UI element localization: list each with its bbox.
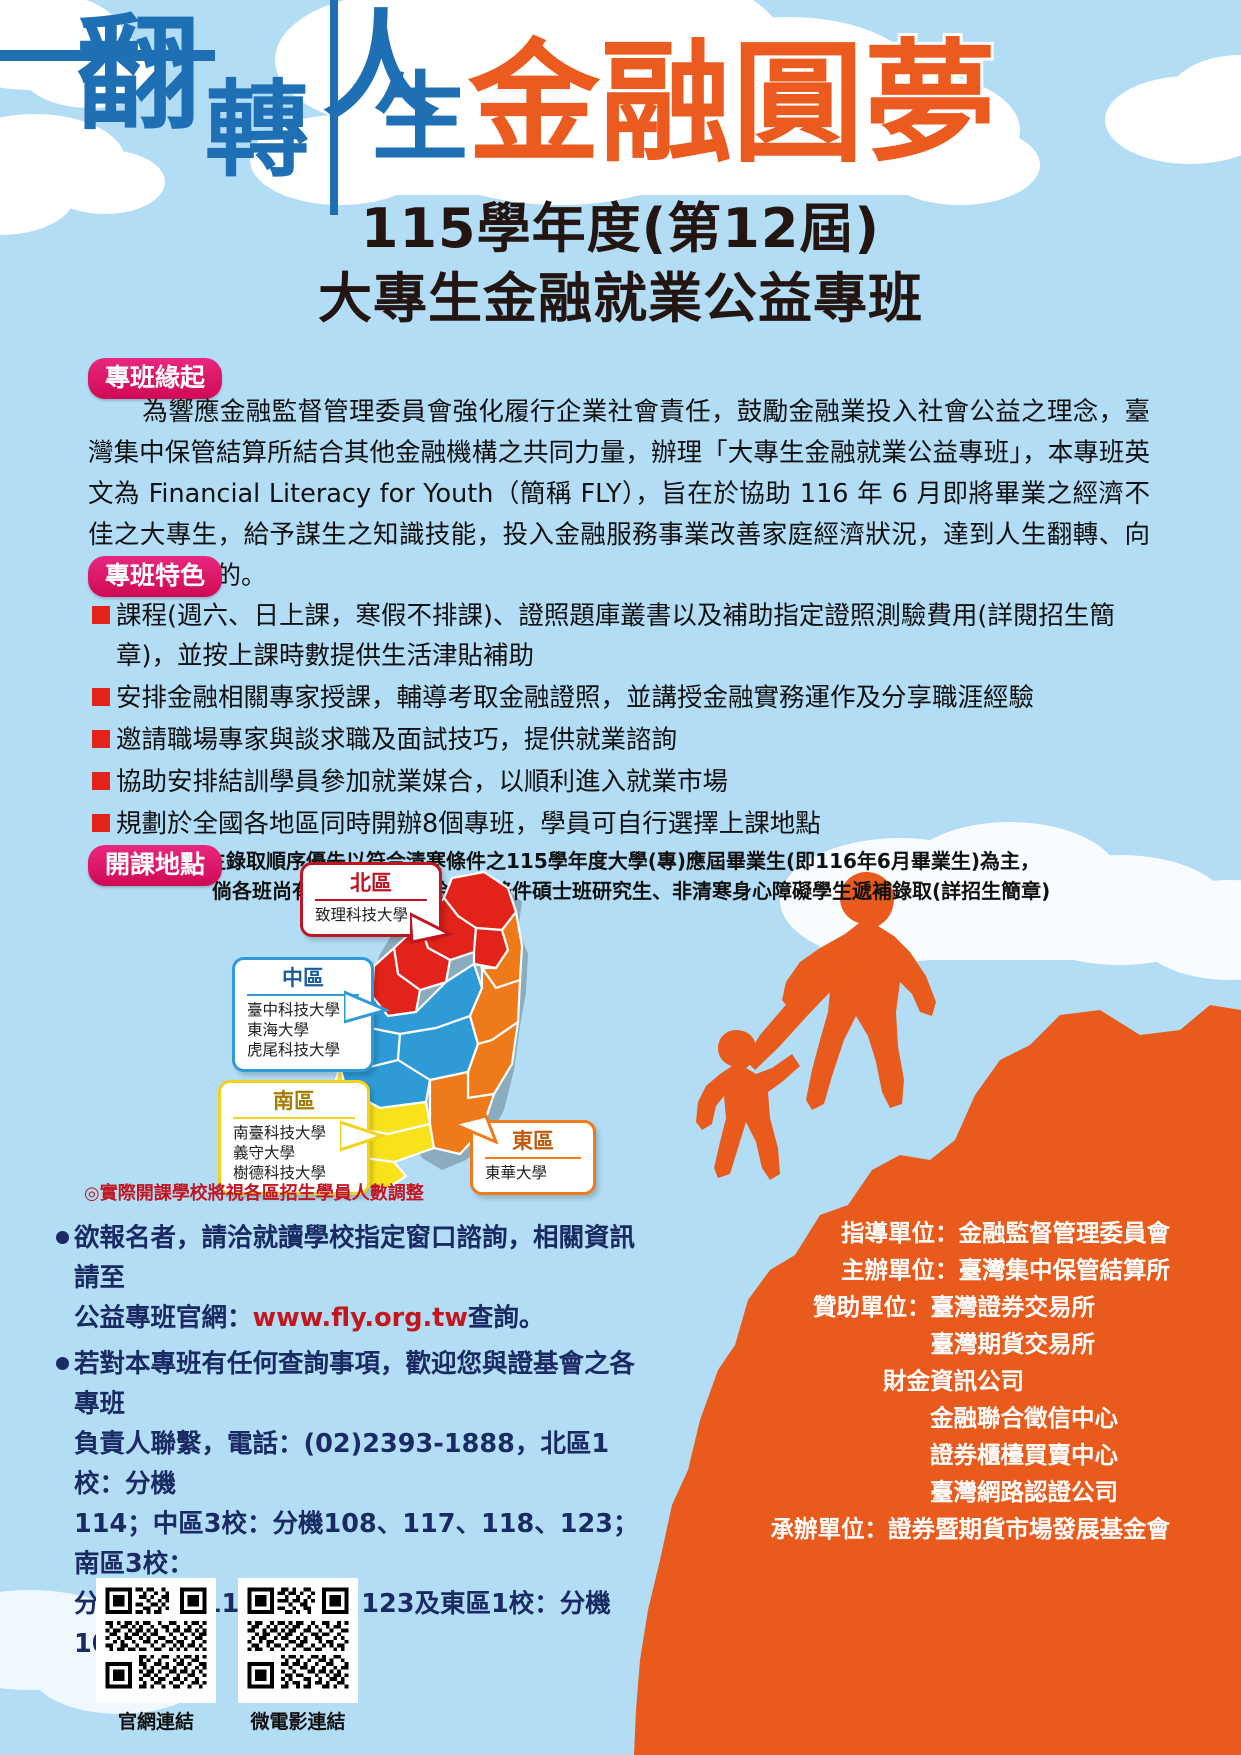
- callout-east-title: 東區: [485, 1129, 581, 1159]
- sponsor-label: 承辦單位：: [771, 1514, 889, 1544]
- bullet-square-icon: [92, 688, 110, 706]
- contact-text-c: 查詢。: [468, 1303, 545, 1333]
- bullet-dot-icon: [56, 1357, 69, 1370]
- north-extension: 114: [74, 1509, 127, 1539]
- sponsor-label: 主辦單位：: [841, 1255, 959, 1285]
- section-pill-features: 專班特色: [88, 556, 222, 597]
- qr-video-link-image[interactable]: [238, 1578, 358, 1703]
- qr-video-link[interactable]: 微電影連結: [238, 1578, 358, 1734]
- page-title-line2: 大專生金融就業公益專班: [0, 268, 1241, 330]
- feature-item-label: 規劃於全國各地區同時開辦8個專班，學員可自行選擇上課地點: [116, 804, 821, 844]
- callout-central-tail: [344, 990, 390, 1026]
- contact-text-b: 公益專班官網：: [74, 1303, 253, 1333]
- sponsors-block: 指導單位： 金融監督管理委員會 主辦單位： 臺灣集中保管結算所 贊助單位： 臺灣…: [640, 1218, 1170, 1551]
- origin-paragraph-text: 為響應金融監督管理委員會強化履行企業社會責任，鼓勵金融業投入社會公益之理念，臺灣…: [88, 397, 1150, 591]
- sponsor-row: 金融聯合徵信中心: [640, 1403, 1170, 1433]
- bullet-square-icon: [92, 814, 110, 832]
- feature-item: 安排金融相關專家授課，輔導考取金融證照，並講授金融實務運作及分享職涯經驗: [92, 678, 1150, 718]
- qr-official-site[interactable]: 官網連結: [96, 1578, 216, 1734]
- headline-char-fan: 翻: [76, 13, 198, 137]
- callout-central-school: 虎尾科技大學: [247, 1040, 359, 1060]
- qr-official-site-image[interactable]: [96, 1578, 216, 1703]
- qr-code-icon[interactable]: [244, 1584, 352, 1692]
- callout-north-title: 北區: [315, 871, 427, 901]
- callout-south-school: 義守大學: [233, 1143, 355, 1163]
- callout-central-title: 中區: [247, 966, 359, 996]
- sponsor-value: 臺灣網路認證公司: [930, 1477, 1118, 1507]
- feature-item: 邀請職場專家與談求職及面試技巧，提供就業諮詢: [92, 720, 1150, 760]
- contact-text-d: 若對本專班有任何查詢事項，歡迎您與證基會之各專班: [74, 1349, 635, 1419]
- bullet-dot-icon: [56, 1231, 69, 1244]
- callout-south-title: 南區: [233, 1089, 355, 1119]
- callout-central-school: 東海大學: [247, 1020, 359, 1040]
- feature-item: 課程(週六、日上課，寒假不排課)、證照題庫叢書以及補助指定證照測驗費用(詳閱招生…: [92, 596, 1150, 676]
- contact-text-m: 及東區: [414, 1589, 491, 1619]
- callout-east-tail: [452, 1112, 498, 1148]
- features-list: 課程(週六、日上課，寒假不排課)、證照題庫叢書以及補助指定證照測驗費用(詳閱招生…: [92, 596, 1150, 906]
- contact-text-h: ；中區: [127, 1509, 204, 1539]
- east-school-count: 1: [491, 1589, 509, 1619]
- sponsor-row: 主辦單位： 臺灣集中保管結算所: [640, 1255, 1170, 1285]
- sponsor-value: 臺灣證券交易所: [931, 1292, 1096, 1322]
- callout-south-school: 南臺科技大學: [233, 1123, 355, 1143]
- sponsor-row: 指導單位： 金融監督管理委員會: [640, 1218, 1170, 1248]
- contact-text-f: ，北區: [515, 1429, 592, 1459]
- contact-line-1: 欲報名者，請洽就讀學校指定窗口諮詢，相關資訊請至 公益專班官網：www.fly.…: [56, 1218, 656, 1338]
- feature-item-label: 協助安排結訓學員參加就業媒合，以順利進入就業市場: [116, 762, 728, 802]
- sponsor-value: 金融監督管理委員會: [959, 1218, 1171, 1248]
- sponsor-value: 證券櫃檯買賣中心: [930, 1440, 1118, 1470]
- sponsor-row: 承辦單位： 證券暨期貨市場發展基金會: [640, 1514, 1170, 1544]
- feature-item: 協助安排結訓學員參加就業媒合，以順利進入就業市場: [92, 762, 1150, 802]
- headline-char-sheng: 生: [372, 70, 466, 166]
- sponsor-value: 證券暨期貨市場發展基金會: [888, 1514, 1170, 1544]
- sponsor-value: 金融聯合徵信中心: [930, 1403, 1118, 1433]
- feature-item-label: 邀請職場專家與談求職及面試技巧，提供就業諮詢: [116, 720, 677, 760]
- bullet-square-icon: [92, 730, 110, 748]
- qr-official-site-label: 官網連結: [96, 1707, 216, 1734]
- sponsor-value: 臺灣集中保管結算所: [959, 1255, 1171, 1285]
- sponsor-row: 證券櫃檯買賣中心: [640, 1440, 1170, 1470]
- poster-root: 翻 轉 人 生 金融圓夢 115學年度(第12屆) 大專生金融就業公益專班 專班…: [0, 0, 1241, 1755]
- callout-central-school: 臺中科技大學: [247, 1000, 359, 1020]
- official-site-link[interactable]: www.fly.org.tw: [253, 1303, 468, 1333]
- headline-char-zhuan: 轉: [205, 78, 307, 182]
- map-footnote: ◎實際開課學校將視各區招生學員人數調整: [84, 1179, 424, 1205]
- south-school-count: 3: [125, 1549, 143, 1579]
- callout-east-school: 東華大學: [485, 1163, 581, 1183]
- contact-text-n: 校：分機: [509, 1589, 611, 1619]
- feature-item-label: 安排金融相關專家授課，輔導考取金融證照，並講授金融實務運作及分享職涯經驗: [116, 678, 1034, 718]
- sponsor-row: 贊助單位： 臺灣證券交易所: [640, 1292, 1170, 1322]
- north-school-count: 1: [591, 1429, 609, 1459]
- sponsor-label: 贊助單位：: [813, 1292, 931, 1322]
- qr-video-link-label: 微電影連結: [238, 1707, 358, 1734]
- contact-text-i: 校：分機: [222, 1509, 324, 1539]
- contact-text-k: 校：: [143, 1549, 194, 1579]
- qr-code-icon[interactable]: [102, 1584, 210, 1692]
- contact-text-g: 校：分機: [74, 1469, 176, 1499]
- sponsor-value: 財金資訊公司: [883, 1366, 1024, 1396]
- origin-paragraph: 為響應金融監督管理委員會強化履行企業社會責任，鼓勵金融業投入社會公益之理念，臺灣…: [88, 392, 1150, 597]
- section-pill-locations: 開課地點: [88, 845, 222, 886]
- contact-text-e: 負責人聯繫，電話：: [74, 1429, 304, 1459]
- headline-orange-text: 金融圓夢: [468, 38, 996, 170]
- central-school-count: 3: [204, 1509, 222, 1539]
- bullet-square-icon: [92, 606, 110, 624]
- central-extensions: 108、117、118、123: [324, 1509, 613, 1539]
- bullet-square-icon: [92, 772, 110, 790]
- page-title-line1: 115學年度(第12屆): [0, 198, 1241, 260]
- contact-phone: (02)2393-1888: [304, 1429, 515, 1459]
- headline-vertical-rule: [330, 0, 338, 215]
- contact-line-1-text: 欲報名者，請洽就讀學校指定窗口諮詢，相關資訊請至 公益專班官網：www.fly.…: [74, 1218, 656, 1338]
- contact-text-a: 欲報名者，請洽就讀學校指定窗口諮詢，相關資訊請至: [74, 1223, 635, 1293]
- feature-item-label: 課程(週六、日上課，寒假不排課)、證照題庫叢書以及補助指定證照測驗費用(詳閱招生…: [116, 596, 1150, 676]
- sponsor-row: 臺灣網路認證公司: [640, 1477, 1170, 1507]
- sponsor-value: 臺灣期貨交易所: [931, 1329, 1096, 1359]
- sponsor-row: 臺灣期貨交易所: [640, 1329, 1170, 1359]
- callout-south-tail: [340, 1118, 386, 1154]
- headline-art: 翻 轉 人 生 金融圓夢: [0, 0, 1241, 200]
- feature-item: 規劃於全國各地區同時開辦8個專班，學員可自行選擇上課地點: [92, 804, 1150, 844]
- callout-north-tail: [410, 912, 454, 946]
- sponsor-row: 財金資訊公司: [640, 1366, 1170, 1396]
- sponsor-label: 指導單位：: [841, 1218, 959, 1248]
